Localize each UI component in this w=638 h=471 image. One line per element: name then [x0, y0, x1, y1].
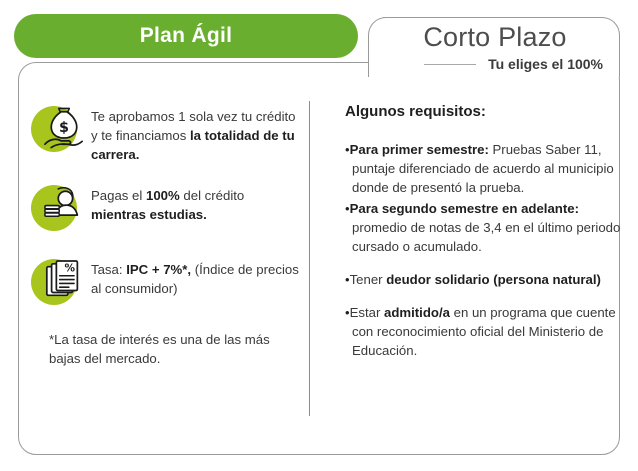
corto-plazo-title: Corto Plazo	[369, 21, 621, 54]
interest-rate-footnote: *La tasa de interés es una de las más ba…	[49, 330, 289, 368]
benefit-item-pay-while-studying: Pagas el 100% del crédito mientras estud…	[31, 182, 299, 238]
plan-agil-button-label: Plan Ágil	[140, 24, 233, 48]
benefit-text-normal-2: del crédito	[180, 188, 245, 203]
benefit-text-bold-2: mientras estudias.	[91, 207, 207, 222]
benefit-item-financing: $ Te aprobamos 1 sola vez tu crédito y t…	[31, 103, 299, 164]
requirement-bold: admitido/a	[384, 305, 450, 320]
graduate-glyph	[43, 185, 85, 229]
requirement-bold: Para segundo semestre en adelante:	[350, 201, 579, 216]
graduate-with-books-icon	[31, 182, 83, 234]
subtitle-rule-divider	[424, 64, 476, 65]
plan-agil-button[interactable]: Plan Ágil	[14, 14, 358, 58]
svg-text:%: %	[64, 262, 75, 274]
benefit-text: Tasa: IPC + 7%*, (Índice de precios al c…	[91, 256, 299, 298]
main-card: $ Te aprobamos 1 sola vez tu crédito y t…	[18, 62, 620, 455]
benefit-text-bold: 100%	[146, 188, 180, 203]
documents-percent-icon: %	[31, 256, 83, 308]
benefit-text: Pagas el 100% del crédito mientras estud…	[91, 182, 299, 224]
credit-plan-infographic: $ Te aprobamos 1 sola vez tu crédito y t…	[0, 0, 638, 471]
money-bag-glyph: $	[43, 106, 85, 150]
requirement-pre: Tener	[350, 272, 387, 287]
requirement-pre: Estar	[350, 305, 384, 320]
requirement-item: •Para segundo semestre en adelante: prom…	[345, 199, 627, 256]
benefit-text-normal: Pagas el	[91, 188, 146, 203]
corto-plazo-header-card: Corto Plazo Tu eliges el 100%	[368, 17, 620, 77]
benefits-column: $ Te aprobamos 1 sola vez tu crédito y t…	[31, 103, 299, 368]
requirement-bold: deudor solidario (persona natural)	[386, 272, 601, 287]
benefit-text-bold: IPC + 7%*,	[126, 262, 191, 277]
requirements-title: Algunos requisitos:	[345, 103, 627, 120]
requirement-normal: promedio de notas de 3,4 en el último pe…	[352, 220, 620, 254]
svg-text:$: $	[59, 120, 69, 136]
requirement-bold: Para primer semestre:	[350, 142, 489, 157]
column-divider	[309, 101, 310, 416]
benefit-item-rate: % Tasa: IPC + 7%*, (Índice de precios al…	[31, 256, 299, 312]
requirement-item: •Estar admitido/a en un programa que cue…	[345, 303, 627, 360]
corto-plazo-subtitle: Tu eliges el 100%	[488, 56, 603, 72]
documents-percent-glyph: %	[43, 259, 85, 303]
requirement-item: •Para primer semestre: Pruebas Saber 11,…	[345, 140, 627, 197]
requirement-item: •Tener deudor solidario (persona natural…	[345, 270, 627, 289]
benefit-text-normal: Tasa:	[91, 262, 126, 277]
corto-plazo-subtitle-row: Tu eliges el 100%	[369, 56, 621, 72]
money-bag-on-hand-icon: $	[31, 103, 83, 155]
requirements-column: Algunos requisitos: •Para primer semestr…	[345, 103, 627, 362]
benefit-text: Te aprobamos 1 sola vez tu crédito y te …	[91, 103, 299, 164]
